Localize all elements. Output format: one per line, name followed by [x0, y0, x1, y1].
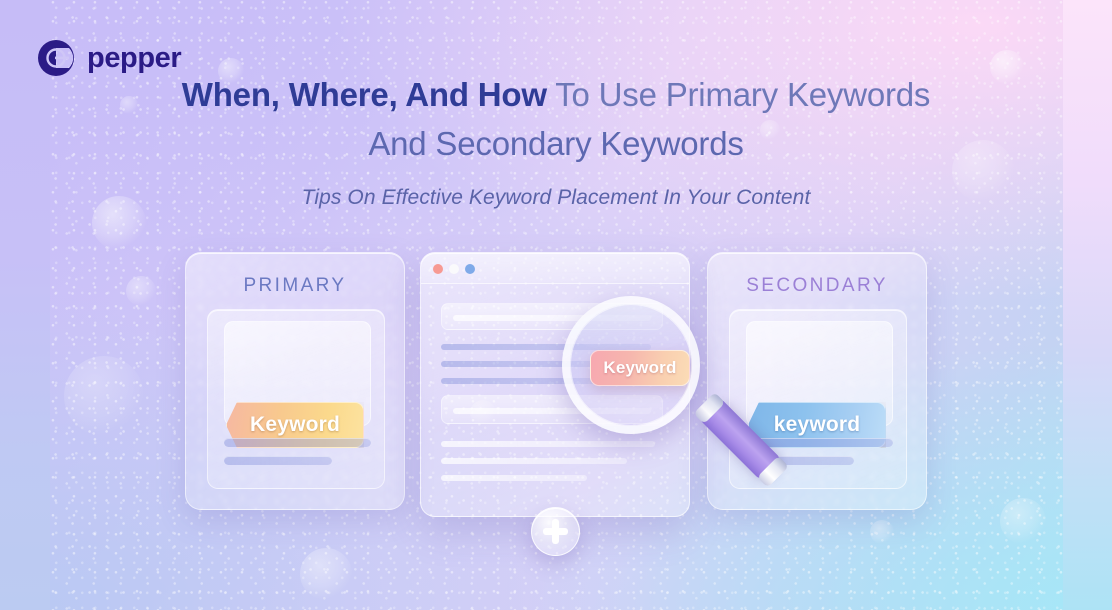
page-title: When, Where, And How To Use Primary Keyw…	[0, 70, 1112, 168]
browser-title-bar	[421, 253, 689, 284]
secondary-card-label: SECONDARY	[708, 275, 926, 297]
primary-text-bar	[224, 456, 332, 465]
minimize-dot-icon[interactable]	[449, 264, 459, 274]
add-button[interactable]	[531, 507, 580, 556]
plus-icon	[543, 528, 568, 535]
close-dot-icon[interactable]	[433, 264, 443, 274]
magnified-keyword-tag[interactable]: Keyword	[590, 350, 690, 386]
magnifier-lens: Keyword	[562, 296, 700, 434]
secondary-card: SECONDARY keyword	[707, 252, 927, 510]
magnifying-glass-icon[interactable]: Keyword	[562, 296, 700, 434]
content-line	[441, 441, 655, 447]
title-line-1: When, Where, And How To Use Primary Keyw…	[0, 70, 1112, 119]
page-subtitle: Tips On Effective Keyword Placement In Y…	[0, 186, 1112, 210]
maximize-dot-icon[interactable]	[465, 264, 475, 274]
title-line-2: And Secondary Keywords	[0, 119, 1112, 168]
title-light: To Use Primary Keywords	[547, 76, 930, 113]
primary-inner-panel: Keyword	[207, 309, 385, 489]
primary-card-label: PRIMARY	[186, 275, 404, 297]
title-strong: When, Where, And How	[182, 76, 547, 113]
poster-stage: pepper When, Where, And How To Use Prima…	[0, 0, 1112, 610]
primary-card: PRIMARY Keyword	[185, 252, 405, 510]
content-line	[441, 475, 587, 481]
content-line	[441, 458, 627, 464]
magnifier-lens-gloss	[562, 296, 700, 353]
brand-name: pepper	[87, 44, 181, 73]
primary-text-bar	[224, 438, 371, 447]
